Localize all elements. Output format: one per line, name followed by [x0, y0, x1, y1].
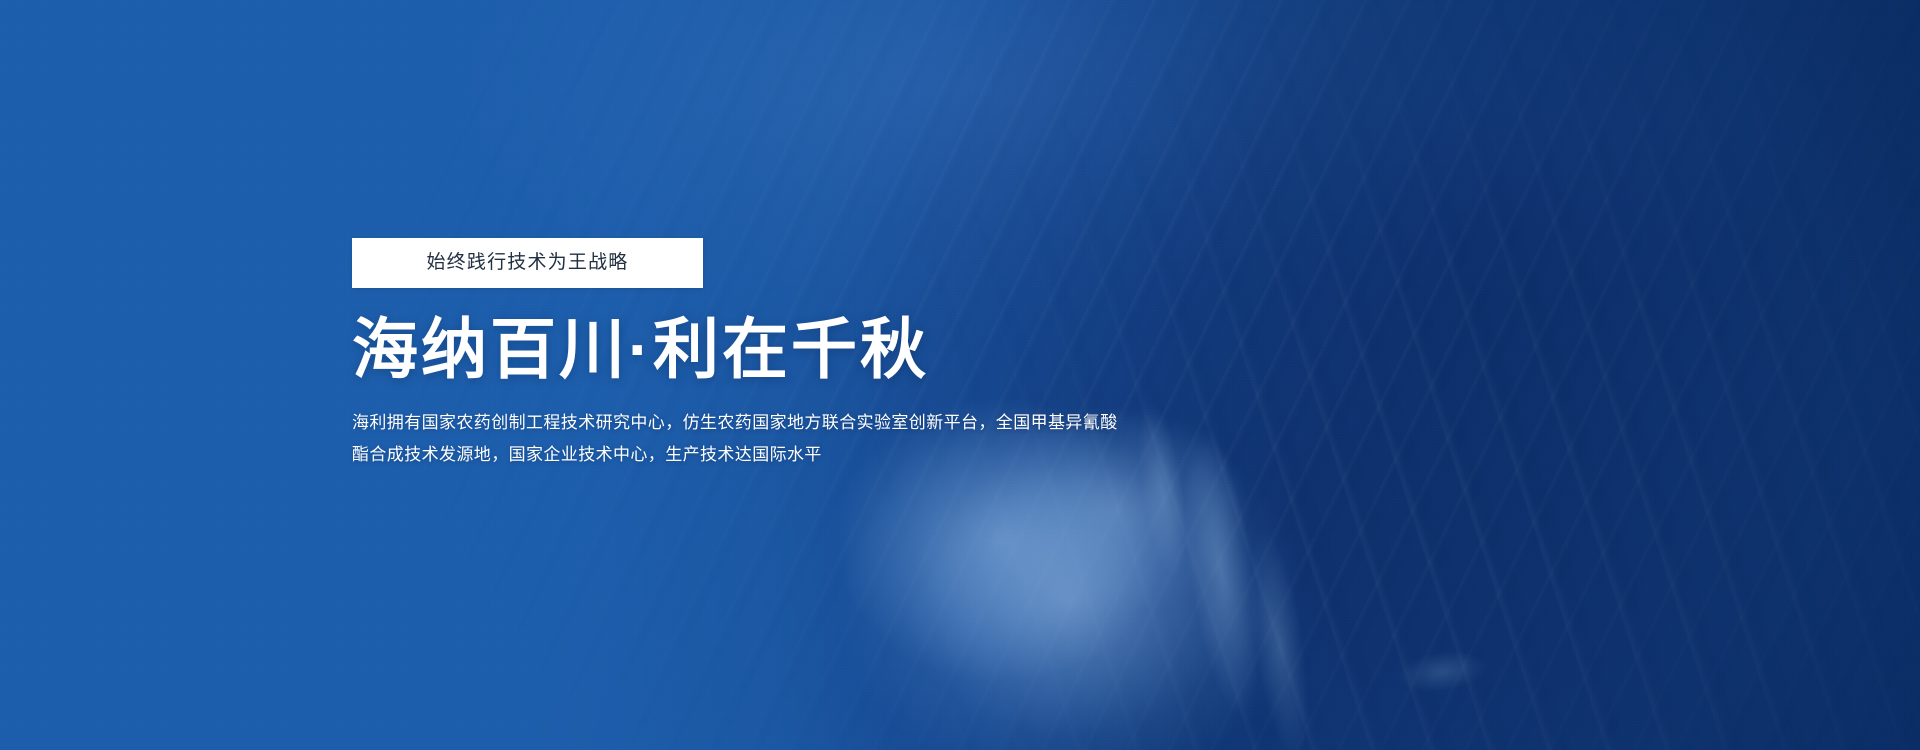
hero-subtitle: 海利拥有国家农药创制工程技术研究中心，仿生农药国家地方联合实验室创新平台，全国甲… — [352, 407, 1182, 470]
hero-content: 始终践行技术为王战略 海纳百川·利在千秋 海利拥有国家农药创制工程技术研究中心，… — [352, 238, 1252, 470]
hero-headline: 海纳百川·利在千秋 — [352, 316, 1252, 383]
strategy-badge: 始终践行技术为王战略 — [352, 238, 703, 288]
hero-subtitle-line-2: 酯合成技术发源地，国家企业技术中心，生产技术达国际水平 — [352, 439, 1182, 470]
hero-subtitle-line-1: 海利拥有国家农药创制工程技术研究中心，仿生农药国家地方联合实验室创新平台，全国甲… — [352, 407, 1182, 438]
hero-banner: 始终践行技术为王战略 海纳百川·利在千秋 海利拥有国家农药创制工程技术研究中心，… — [0, 0, 1920, 750]
